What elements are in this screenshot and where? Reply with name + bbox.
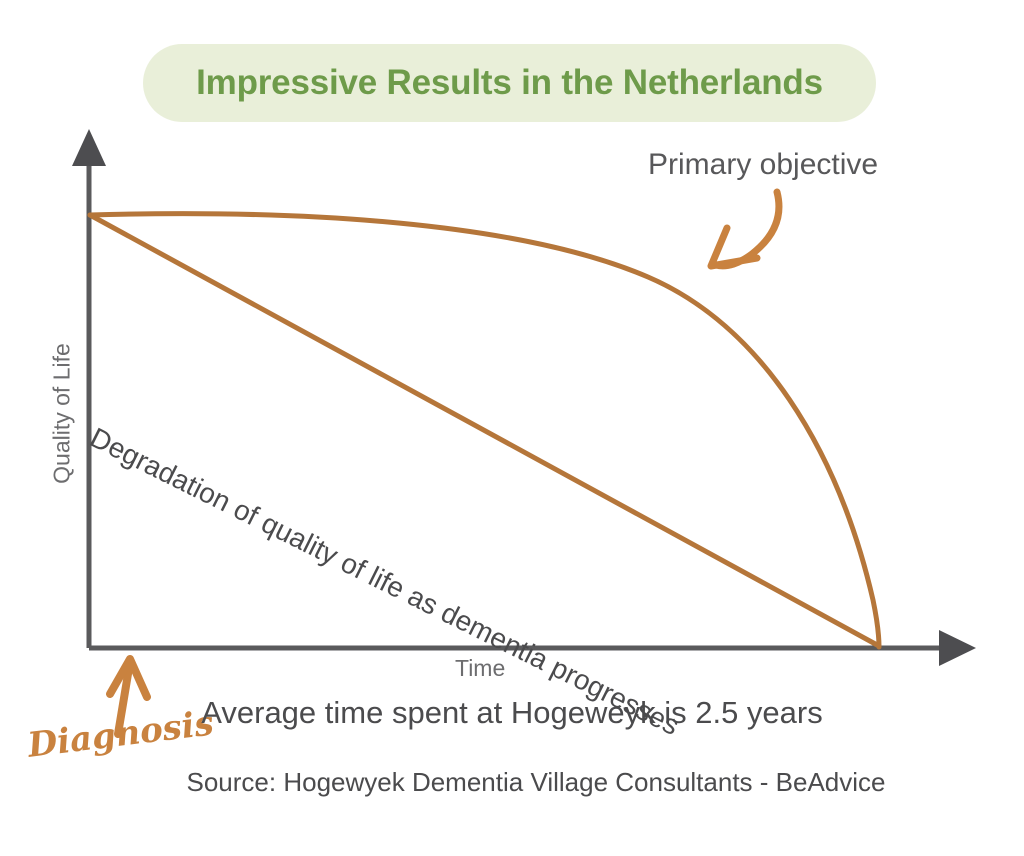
average-time-caption: Average time spent at Hogeweyk is 2.5 ye… <box>0 695 1024 731</box>
x-axis-label: Time <box>455 655 505 682</box>
x-axis-arrowhead-icon <box>939 630 976 666</box>
primary-objective-arrowhead-icon <box>711 228 757 266</box>
chart-page: Impressive Results in the Netherlands Qu… <box>0 0 1024 856</box>
degradation-line-series <box>90 215 879 646</box>
primary-objective-annotation: Primary objective <box>648 148 878 182</box>
y-axis-arrowhead-icon <box>72 129 106 166</box>
source-caption: Source: Hogewyek Dementia Village Consul… <box>0 767 1024 798</box>
y-axis-label: Quality of Life <box>49 314 76 514</box>
